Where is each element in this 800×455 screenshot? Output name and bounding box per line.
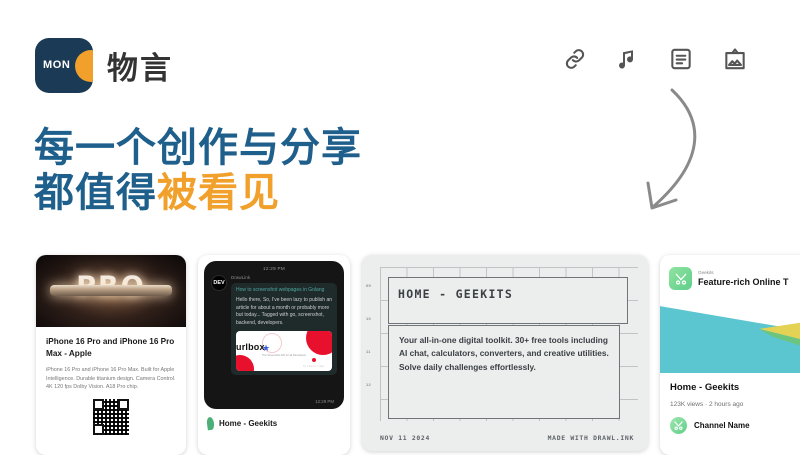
app-logo-mark: MON bbox=[35, 38, 93, 93]
moon-shape-icon bbox=[75, 50, 93, 82]
qr-code-icon bbox=[93, 399, 129, 435]
chat-timestamp: 12:29 PM bbox=[315, 399, 334, 404]
link-preview-description: iPhone 16 Pro and iPhone 16 Pro Max. Bui… bbox=[46, 366, 176, 392]
music-note-icon[interactable] bbox=[616, 46, 640, 72]
channel-avatar bbox=[670, 417, 687, 434]
page-title: 每一个创作与分享 都值得被看见 bbox=[34, 126, 362, 216]
brand-logo[interactable]: MON 物言 bbox=[35, 38, 173, 93]
decorative-blob-icon bbox=[236, 355, 254, 371]
headline-line-2: 都值得被看见 bbox=[34, 171, 362, 216]
note-sheet: 09 10 11 12 HOME - GEEKITS Your all-in-o… bbox=[380, 267, 638, 421]
urlbox-subtitle: The Screenshot API for all Developers bbox=[236, 354, 332, 357]
video-card-header: Geekits Feature-rich Online T bbox=[660, 255, 800, 297]
chat-message-row: DEV DrawLink How to screenshot webpages … bbox=[211, 275, 337, 375]
card-link-preview[interactable]: PRO iPhone 16 Pro and iPhone 16 Pro Max … bbox=[36, 255, 186, 455]
note-meta: NOV 11 2024 MADE WITH DRAWL.INK bbox=[380, 434, 634, 442]
note-row-label: 10 bbox=[366, 316, 371, 349]
note-row-label: 11 bbox=[366, 349, 371, 382]
link-preview-title: iPhone 16 Pro and iPhone 16 Pro Max - Ap… bbox=[46, 336, 176, 360]
chat-sender-name: DrawLink bbox=[231, 275, 337, 280]
video-card-body: Home - Geekits 123K views · 2 hours ago … bbox=[660, 373, 800, 434]
headline-line-1: 每一个创作与分享 bbox=[34, 126, 362, 171]
video-header-title: Feature-rich Online T bbox=[698, 277, 789, 287]
brand-name: 物言 bbox=[107, 43, 173, 88]
video-stats: 123K views · 2 hours ago bbox=[670, 401, 800, 408]
note-body-text: Your all-in-one digital toolkit. 30+ fre… bbox=[389, 326, 619, 374]
avatar: DEV bbox=[211, 275, 227, 291]
chat-card-footer-title: Home - Geekits bbox=[219, 419, 277, 428]
logo-text: MON bbox=[43, 59, 70, 71]
chat-clock: 12:29 PM bbox=[211, 266, 337, 271]
chat-message-column: DrawLink How to screenshot webpages in G… bbox=[231, 275, 337, 375]
video-thumbnail bbox=[660, 297, 800, 373]
video-channel-row[interactable]: Channel Name bbox=[670, 417, 800, 434]
urlbox-link-preview[interactable]: ★ urlbox The Screenshot API for all Deve… bbox=[236, 331, 332, 371]
video-header-text: Geekits Feature-rich Online T bbox=[698, 270, 789, 287]
link-icon[interactable] bbox=[562, 46, 588, 72]
headline-line-2-orange: 被看见 bbox=[157, 170, 280, 216]
chat-message-title: How to screenshot webpages in Golang bbox=[236, 287, 332, 294]
card-video-geekits[interactable]: Geekits Feature-rich Online T Home - Gee… bbox=[660, 255, 800, 455]
leaf-icon bbox=[206, 417, 215, 431]
channel-name: Channel Name bbox=[694, 421, 750, 430]
video-header-small: Geekits bbox=[698, 270, 789, 275]
iphone-illustration bbox=[50, 285, 172, 296]
note-date: NOV 11 2024 bbox=[380, 434, 430, 442]
note-body-box: Your all-in-one digital toolkit. 30+ fre… bbox=[388, 325, 620, 419]
chat-bubble: How to screenshot webpages in Golang Hel… bbox=[231, 283, 337, 375]
urlbox-brand-text: urlbox bbox=[236, 342, 332, 352]
curved-arrow-icon bbox=[618, 82, 728, 227]
note-made-with: MADE WITH DRAWL.INK bbox=[548, 434, 634, 442]
note-row-label: 09 bbox=[366, 283, 371, 316]
note-title: HOME - GEEKITS bbox=[389, 278, 627, 301]
note-row-labels: 09 10 11 12 bbox=[366, 283, 371, 415]
card-row: PRO iPhone 16 Pro and iPhone 16 Pro Max … bbox=[0, 255, 800, 450]
page-root: MON 物言 bbox=[0, 0, 800, 450]
note-title-box: HOME - GEEKITS bbox=[388, 277, 628, 324]
chat-screenshot: 12:29 PM DEV DrawLink How to screenshot … bbox=[204, 261, 344, 409]
content-type-icons bbox=[562, 46, 748, 72]
image-clipboard-icon[interactable] bbox=[722, 46, 748, 72]
geekits-tools-icon bbox=[669, 267, 692, 290]
chat-message-body: Hello there, So, I've been lazy to publi… bbox=[236, 297, 332, 327]
chat-card-footer: Home - Geekits bbox=[198, 409, 350, 430]
link-preview-hero-image: PRO bbox=[36, 255, 186, 327]
headline-line-2-blue: 都值得 bbox=[34, 170, 157, 216]
link-preview-body: iPhone 16 Pro and iPhone 16 Pro Max - Ap… bbox=[36, 327, 186, 439]
video-title: Home - Geekits bbox=[670, 382, 800, 393]
document-icon[interactable] bbox=[668, 46, 694, 72]
card-chat-screenshot[interactable]: 12:29 PM DEV DrawLink How to screenshot … bbox=[198, 255, 350, 455]
urlbox-subtitle-2: Try it free for 7 days bbox=[303, 365, 324, 368]
card-note-geekits[interactable]: 09 10 11 12 HOME - GEEKITS Your all-in-o… bbox=[362, 255, 648, 451]
note-row-label: 12 bbox=[366, 382, 371, 415]
decorative-dot-icon bbox=[312, 358, 316, 362]
